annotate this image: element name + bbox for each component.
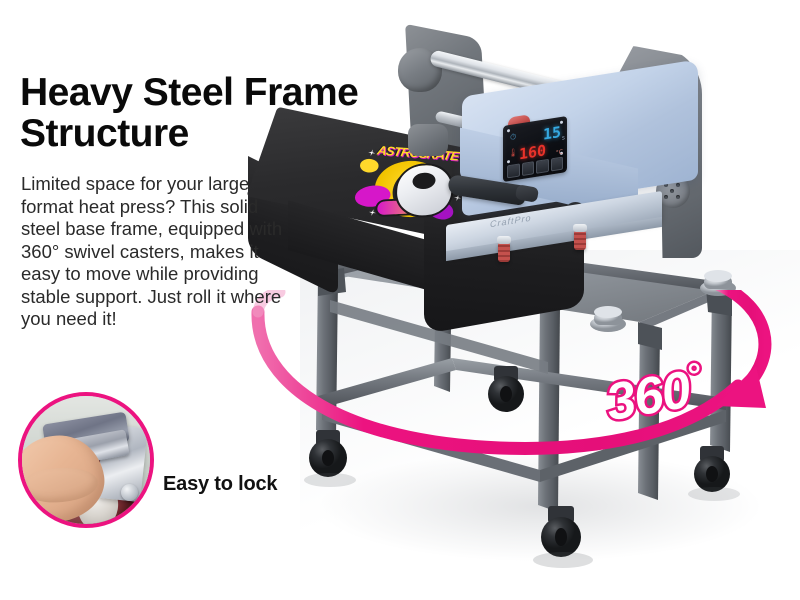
page-title: Heavy Steel Frame Structure	[20, 72, 440, 155]
temperature-unit: °C	[556, 149, 563, 157]
key-1[interactable]	[507, 163, 520, 178]
control-display-panel[interactable]: ⏱ 15 s 🌡 160 °C	[503, 116, 567, 182]
body-description: Limited space for your large format heat…	[21, 173, 289, 331]
headline-line-2: Structure	[20, 113, 440, 154]
caster-photo-inset	[18, 392, 154, 528]
spring-bolt-red	[498, 242, 510, 262]
key-4[interactable]	[551, 157, 564, 172]
product-feature-banner: ASTROSKATE	[0, 0, 800, 600]
curved-rotation-arrow	[250, 290, 800, 500]
spring-bolt-cap	[497, 236, 511, 244]
timer-unit: s	[562, 134, 565, 141]
thermometer-icon: 🌡	[508, 148, 518, 159]
headline-line-1: Heavy Steel Frame	[20, 71, 358, 114]
spring-bolt-cap	[573, 224, 587, 232]
easy-to-lock-caption: Easy to lock	[163, 473, 277, 496]
key-3[interactable]	[536, 159, 549, 174]
swivel-caster	[541, 506, 581, 557]
clock-icon: ⏱	[510, 132, 516, 143]
sparkle-icon	[368, 209, 377, 217]
spring-bolt-red	[574, 230, 586, 250]
caster-axle-bolt	[121, 484, 138, 501]
key-2[interactable]	[522, 161, 535, 176]
